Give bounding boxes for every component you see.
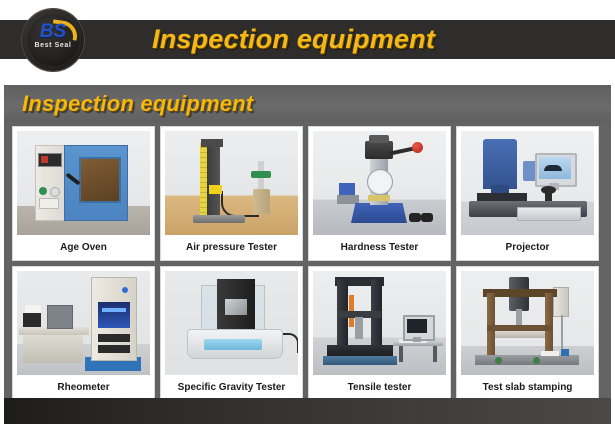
air-pressure-tester-photo <box>165 131 298 235</box>
footer-band <box>4 398 611 424</box>
equipment-grid: Age Oven <box>12 126 603 401</box>
equipment-row: Rheometer Specific Gravity Tester <box>12 266 603 401</box>
equipment-caption: Test slab stamping <box>461 375 594 400</box>
panel-header: Inspection equipment <box>4 85 611 122</box>
hardness-tester-photo <box>313 131 446 235</box>
equipment-card-projector[interactable]: Projector <box>456 126 599 261</box>
equipment-caption: Air pressure Tester <box>165 235 298 260</box>
age-oven-photo <box>17 131 150 235</box>
company-logo[interactable]: BS Best Seal <box>22 9 84 71</box>
equipment-card-specific-gravity-tester[interactable]: Specific Gravity Tester <box>160 266 303 401</box>
equipment-card-hardness-tester[interactable]: Hardness Tester <box>308 126 451 261</box>
tensile-tester-photo <box>313 271 446 375</box>
logo-monogram: BS <box>22 22 84 41</box>
equipment-card-air-pressure-tester[interactable]: Air pressure Tester <box>160 126 303 261</box>
equipment-caption: Tensile tester <box>313 375 446 400</box>
equipment-card-rheometer[interactable]: Rheometer <box>12 266 155 401</box>
equipment-row: Age Oven <box>12 126 603 261</box>
top-header-bar: Inspection equipment <box>0 20 615 59</box>
specific-gravity-tester-photo <box>165 271 298 375</box>
equipment-caption: Rheometer <box>17 375 150 400</box>
equipment-caption: Projector <box>461 235 594 260</box>
page-title: Inspection equipment <box>152 19 435 59</box>
equipment-card-age-oven[interactable]: Age Oven <box>12 126 155 261</box>
equipment-caption: Age Oven <box>17 235 150 260</box>
equipment-card-test-slab-stamping[interactable]: Test slab stamping <box>456 266 599 401</box>
equipment-caption: Hardness Tester <box>313 235 446 260</box>
test-slab-stamping-photo <box>461 271 594 375</box>
equipment-caption: Specific Gravity Tester <box>165 375 298 400</box>
panel-title: Inspection equipment <box>22 85 253 122</box>
logo-wordmark: Best Seal <box>22 42 84 50</box>
projector-photo <box>461 131 594 235</box>
equipment-panel: Inspection equipment <box>4 85 611 424</box>
page-root: Inspection equipment BS Best Seal Inspec… <box>0 0 615 428</box>
equipment-card-tensile-tester[interactable]: Tensile tester <box>308 266 451 401</box>
rheometer-photo <box>17 271 150 375</box>
